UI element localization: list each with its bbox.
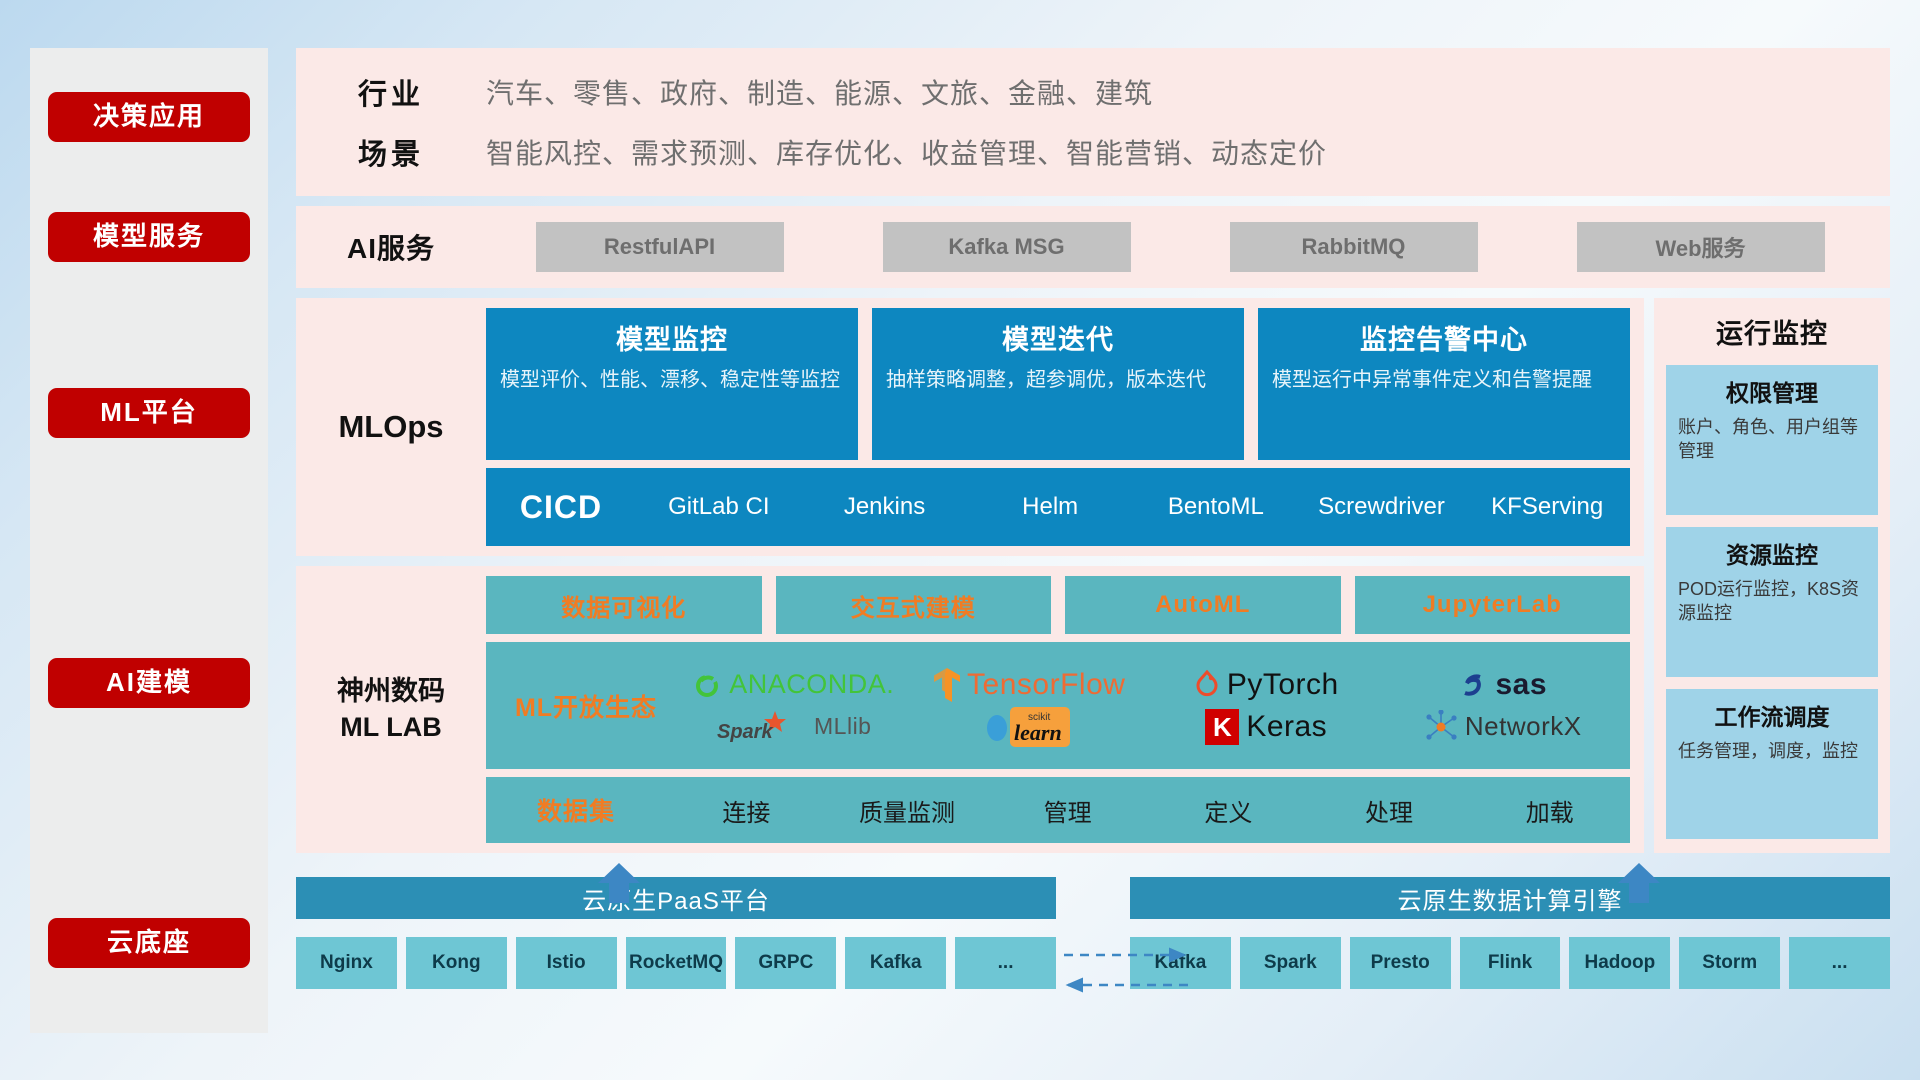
dataset-bar: 数据集 连接 质量监测 管理 定义 处理 加载 — [486, 777, 1630, 843]
mlops-card-list: 模型监控 模型评价、性能、漂移、稳定性等监控 模型迭代 抽样策略调整，超参调优，… — [486, 308, 1630, 460]
cloud-engine-column: 云原生数据计算引擎 Kafka Spark Presto Flink Hadoo… — [1130, 877, 1890, 1027]
card-heading: 监控告警中心 — [1272, 318, 1616, 357]
dataset-label: 数据集 — [486, 792, 666, 828]
cloud-engine-title: 云原生数据计算引擎 — [1130, 877, 1890, 919]
architecture-diagram: 决策应用 模型服务 ML平台 AI建模 云底座 行业 汽车、零售、政府、制造、能… — [30, 48, 1890, 1033]
industry-label: 行业 — [296, 71, 486, 113]
cicd-bar: CICD GitLab CI Jenkins Helm BentoML Scre… — [486, 468, 1630, 546]
tool-tab-automl[interactable]: AutoML — [1065, 576, 1341, 634]
mlops-content: 模型监控 模型评价、性能、漂移、稳定性等监控 模型迭代 抽样策略调整，超参调优，… — [486, 308, 1630, 546]
svg-text:Spark: Spark — [717, 721, 773, 743]
platform-main: MLOps 模型监控 模型评价、性能、漂移、稳定性等监控 模型迭代 抽样策略调整… — [296, 298, 1644, 853]
industry-row: 行业 汽车、零售、政府、制造、能源、文旅、金融、建筑 — [296, 71, 1890, 113]
rail-item-ai-modeling[interactable]: AI建模 — [48, 658, 250, 708]
monitor-card-heading: 资源监控 — [1678, 536, 1866, 570]
ml-lab-label-line2: ML LAB — [296, 710, 486, 745]
svg-text:K: K — [1213, 712, 1232, 742]
ai-service-band: AI服务 RestfulAPI Kafka MSG RabbitMQ Web服务 — [296, 206, 1890, 288]
monitor-card-desc: POD运行监控，K8S资源监控 — [1678, 577, 1866, 626]
tensorflow-icon — [934, 668, 960, 702]
ml-ecosystem-logos: ANACONDA. TensorFlow — [676, 665, 1620, 747]
industry-list: 汽车、零售、政府、制造、能源、文旅、金融、建筑 — [486, 72, 1153, 112]
ai-service-label: AI服务 — [296, 227, 486, 267]
card-heading: 模型迭代 — [886, 318, 1230, 357]
chip-hadoop[interactable]: Hadoop — [1569, 937, 1670, 989]
sas-logo-text: sas — [1495, 668, 1547, 702]
svg-text:learn: learn — [1014, 720, 1062, 745]
chip-kafka[interactable]: Kafka — [845, 937, 946, 989]
service-box-restfulapi[interactable]: RestfulAPI — [536, 222, 784, 272]
dataset-item-quality[interactable]: 质量监测 — [827, 793, 988, 828]
tool-tab-interactive-modeling[interactable]: 交互式建模 — [776, 576, 1052, 634]
ai-modeling-band: 神州数码 ML LAB 数据可视化 交互式建模 AutoML JupyterLa… — [296, 566, 1644, 853]
cicd-item-list: GitLab CI Jenkins Helm BentoML Screwdriv… — [636, 493, 1630, 521]
monitor-card-workflow[interactable]: 工作流调度 任务管理，调度，监控 — [1666, 689, 1878, 839]
mlops-card-alert-center[interactable]: 监控告警中心 模型运行中异常事件定义和告警提醒 — [1258, 308, 1630, 460]
scenario-row: 场景 智能风控、需求预测、库存优化、收益管理、智能营销、动态定价 — [296, 131, 1890, 173]
monitor-card-desc: 账户、角色、用户组等管理 — [1678, 415, 1866, 464]
chip-flink[interactable]: Flink — [1460, 937, 1561, 989]
scenario-list: 智能风控、需求预测、库存优化、收益管理、智能营销、动态定价 — [486, 132, 1327, 172]
anaconda-logo-text: ANACONDA. — [729, 669, 894, 700]
chip-nginx[interactable]: Nginx — [296, 937, 397, 989]
chip-storm[interactable]: Storm — [1679, 937, 1780, 989]
chip-grpc[interactable]: GRPC — [735, 937, 836, 989]
anaconda-icon — [692, 670, 722, 700]
monitor-card-heading: 工作流调度 — [1678, 698, 1866, 732]
bidirectional-dashed-arrows-icon — [1056, 939, 1196, 999]
cicd-item-gitlab-ci[interactable]: GitLab CI — [636, 493, 802, 521]
mlops-band: MLOps 模型监控 模型评价、性能、漂移、稳定性等监控 模型迭代 抽样策略调整… — [296, 298, 1644, 556]
dataset-item-load[interactable]: 加载 — [1469, 793, 1630, 828]
tensorflow-logo: TensorFlow — [934, 668, 1125, 702]
service-box-web[interactable]: Web服务 — [1577, 222, 1825, 272]
cloud-paas-chips: Nginx Kong Istio RocketMQ GRPC Kafka ... — [296, 937, 1056, 989]
networkx-logo: NetworkX — [1424, 710, 1582, 744]
cicd-item-jenkins[interactable]: Jenkins — [802, 493, 968, 521]
ai-service-boxes: RestfulAPI Kafka MSG RabbitMQ Web服务 — [486, 222, 1890, 272]
mlops-label: MLOps — [296, 409, 486, 445]
dataset-item-define[interactable]: 定义 — [1148, 793, 1309, 828]
spark-mllib-logo: Spark MLlib — [715, 710, 871, 744]
mlops-card-model-iteration[interactable]: 模型迭代 抽样策略调整，超参调优，版本迭代 — [872, 308, 1244, 460]
monitor-card-desc: 任务管理，调度，监控 — [1678, 739, 1866, 763]
mlops-card-model-monitoring[interactable]: 模型监控 模型评价、性能、漂移、稳定性等监控 — [486, 308, 858, 460]
pytorch-logo: PyTorch — [1194, 668, 1339, 702]
dataset-item-connect[interactable]: 连接 — [666, 793, 827, 828]
networkx-logo-text: NetworkX — [1465, 711, 1582, 742]
monitor-card-permission[interactable]: 权限管理 账户、角色、用户组等管理 — [1666, 365, 1878, 515]
ml-ecosystem-label: ML开放生态 — [496, 688, 676, 724]
cicd-label: CICD — [486, 489, 636, 526]
rail-item-model-service[interactable]: 模型服务 — [48, 212, 250, 262]
decision-application-band: 行业 汽车、零售、政府、制造、能源、文旅、金融、建筑 场景 智能风控、需求预测、… — [296, 48, 1890, 196]
pytorch-logo-text: PyTorch — [1227, 668, 1339, 702]
chip-istio[interactable]: Istio — [516, 937, 617, 989]
platform-split-row: MLOps 模型监控 模型评价、性能、漂移、稳定性等监控 模型迭代 抽样策略调整… — [296, 298, 1890, 853]
anaconda-logo: ANACONDA. — [692, 669, 894, 700]
keras-icon: K — [1205, 709, 1239, 745]
cicd-item-screwdriver[interactable]: Screwdriver — [1299, 493, 1465, 521]
cicd-item-helm[interactable]: Helm — [967, 493, 1133, 521]
chip-presto[interactable]: Presto — [1350, 937, 1451, 989]
tool-tab-data-visualization[interactable]: 数据可视化 — [486, 576, 762, 634]
runtime-monitor-title: 运行监控 — [1716, 312, 1828, 351]
cloud-paas-column: 云原生PaaS平台 Nginx Kong Istio RocketMQ GRPC… — [296, 877, 1056, 1027]
service-box-kafka-msg[interactable]: Kafka MSG — [883, 222, 1131, 272]
chip-more-right[interactable]: ... — [1789, 937, 1890, 989]
content-column: 行业 汽车、零售、政府、制造、能源、文旅、金融、建筑 场景 智能风控、需求预测、… — [296, 48, 1890, 1033]
cloud-foundation-row: 云原生PaaS平台 Nginx Kong Istio RocketMQ GRPC… — [296, 877, 1890, 1027]
modeling-content: 数据可视化 交互式建模 AutoML JupyterLab ML开放生态 — [486, 576, 1630, 843]
tool-tab-jupyterlab[interactable]: JupyterLab — [1355, 576, 1631, 634]
layer-rail: 决策应用 模型服务 ML平台 AI建模 云底座 — [30, 48, 268, 1033]
sas-icon — [1458, 670, 1488, 700]
cloud-link-gap — [1056, 877, 1130, 1027]
paas-up-arrow-icon — [596, 863, 642, 903]
scikit-learn-icon: scikit learn — [1010, 707, 1076, 747]
rail-item-decision-app[interactable]: 决策应用 — [48, 92, 250, 142]
keras-logo-text: Keras — [1246, 710, 1327, 744]
card-heading: 模型监控 — [500, 318, 844, 357]
keras-logo: K Keras — [1205, 709, 1327, 745]
rail-item-ml-platform[interactable]: ML平台 — [48, 388, 250, 438]
monitor-card-resource[interactable]: 资源监控 POD运行监控，K8S资源监控 — [1666, 527, 1878, 677]
chip-rocketmq[interactable]: RocketMQ — [626, 937, 727, 989]
ml-lab-label-line1: 神州数码 — [296, 674, 486, 709]
scenario-label: 场景 — [296, 131, 486, 173]
runtime-monitor-rail: 运行监控 权限管理 账户、角色、用户组等管理 资源监控 POD运行监控，K8S资… — [1654, 298, 1890, 853]
sas-logo: sas — [1458, 668, 1547, 702]
cicd-item-kfserving[interactable]: KFServing — [1464, 493, 1630, 521]
dataset-item-list: 连接 质量监测 管理 定义 处理 加载 — [666, 793, 1630, 828]
cicd-item-bentoml[interactable]: BentoML — [1133, 493, 1299, 521]
card-desc: 模型运行中异常事件定义和告警提醒 — [1272, 367, 1616, 395]
cloud-engine-chips: Kafka Spark Presto Flink Hadoop Storm ..… — [1130, 937, 1890, 989]
dataset-item-manage[interactable]: 管理 — [987, 793, 1148, 828]
modeling-tool-tabs: 数据可视化 交互式建模 AutoML JupyterLab — [486, 576, 1630, 634]
cloud-paas-title: 云原生PaaS平台 — [296, 877, 1056, 919]
spark-icon: Spark — [715, 710, 807, 744]
card-desc: 模型评价、性能、漂移、稳定性等监控 — [500, 367, 844, 395]
ml-lab-label: 神州数码 ML LAB — [296, 674, 486, 744]
chip-more-left[interactable]: ... — [955, 937, 1056, 989]
networkx-icon — [1424, 710, 1458, 744]
monitor-card-heading: 权限管理 — [1678, 374, 1866, 408]
rail-item-cloud-base[interactable]: 云底座 — [48, 918, 250, 968]
pytorch-icon — [1194, 669, 1220, 701]
chip-spark[interactable]: Spark — [1240, 937, 1341, 989]
chip-kong[interactable]: Kong — [406, 937, 507, 989]
scikit-learn-logo: scikit learn — [983, 707, 1076, 747]
engine-up-arrow-icon — [1616, 863, 1662, 903]
card-desc: 抽样策略调整，超参调优，版本迭代 — [886, 367, 1230, 395]
service-box-rabbitmq[interactable]: RabbitMQ — [1230, 222, 1478, 272]
mllib-logo-text: MLlib — [814, 713, 871, 740]
tensorflow-logo-text: TensorFlow — [967, 668, 1125, 702]
dataset-item-process[interactable]: 处理 — [1309, 793, 1470, 828]
ml-ecosystem-box: ML开放生态 ANACONDA. — [486, 642, 1630, 769]
